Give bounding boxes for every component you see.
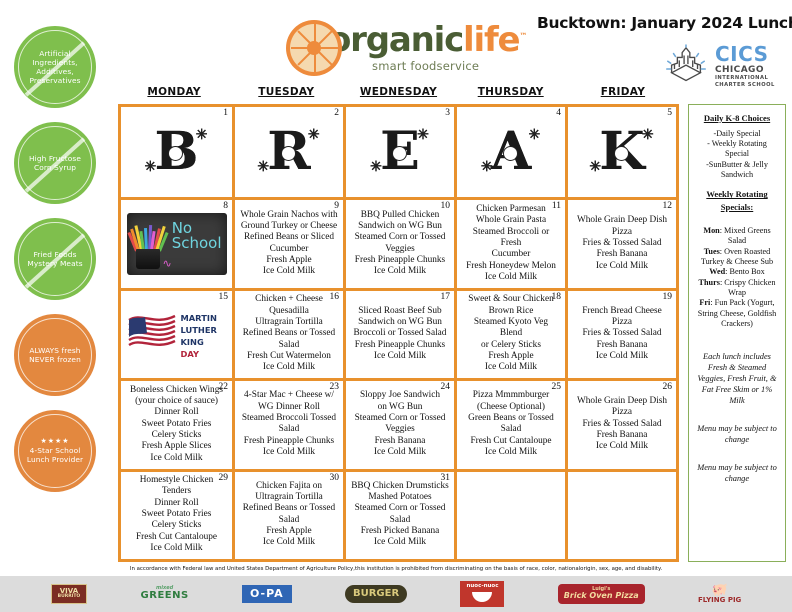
day-number: 29 (219, 473, 229, 483)
brand-name-part2: life (463, 20, 519, 60)
cics-acronym: CICS (715, 44, 775, 64)
menu-items: Chicken + CheeseQuesadillaUltragrain Tor… (238, 294, 340, 373)
chicago-skyline-icon (662, 44, 710, 88)
menu-item: Ultragrain Tortilla (240, 492, 338, 503)
menu-item: Veggies (351, 244, 449, 255)
logo-luigis-name: Brick Oven Pizza (564, 592, 639, 600)
daily-choice-item: -SunButter & Jelly (694, 160, 780, 170)
menu-item: Fresh Apple (240, 255, 338, 266)
menu-item: Brown Rice (462, 306, 560, 317)
calendar-day-cell-4[interactable]: 4A✳✳ (454, 107, 565, 197)
badge-label: Fried Foods Mystery Meats (14, 250, 96, 269)
sparkle-icon: ✳ (308, 128, 320, 142)
calendar-day-cell-25[interactable]: 25Pizza Mmmmburger(Cheese Optional)Green… (454, 381, 565, 468)
sparkle-icon: ✳ (589, 160, 601, 174)
daily-choices-panel: Daily K-8 Choices -Daily Special - Weekl… (688, 104, 786, 562)
day-number: 2 (334, 108, 339, 118)
day-number: 9 (334, 201, 339, 211)
calendar-day-cell-26[interactable]: 26Whole Grain Deep DishPizzaFries & Toss… (565, 381, 676, 468)
calendar-week-row: 22Boneless Chicken Wings(your choice of … (121, 378, 676, 468)
day-number: 3 (445, 108, 450, 118)
menu-item: Fresh Cut Cantaloupe (462, 436, 560, 447)
menu-item: Whole Grain Nachos with (240, 210, 338, 221)
partner-logo-bar: VIVA BURRITO mixed GREENS O-PA BURGER nu… (0, 576, 792, 612)
day-number: 16 (330, 292, 340, 302)
menu-item: Fresh Banana (351, 436, 449, 447)
cics-school-logo: CICS CHICAGO INTERNATIONAL CHARTER SCHOO… (662, 40, 787, 92)
sparkle-icon: ✳ (417, 128, 429, 142)
menu-item: Celery Sticks (126, 520, 227, 531)
sparkle-icon: ✳ (481, 160, 493, 174)
day-number: 22 (219, 382, 229, 392)
menu-item: Cucumber (462, 249, 560, 260)
badge-label: 4-Star School Lunch Provider (27, 446, 83, 464)
menu-item: WG Dinner Roll (240, 402, 338, 413)
menu-item: Ice Cold Milk (351, 351, 449, 362)
cics-line-charter-school: CHARTER SCHOOL (715, 83, 775, 88)
rotating-special-mon: Mon: Mixed Greens Salad (694, 226, 780, 247)
menu-item: Ice Cold Milk (573, 261, 671, 272)
calendar-day-cell-2[interactable]: 2R✳✳ (232, 107, 343, 197)
calendar-week-row: 1B✳✳2R✳✳3E✳✳4A✳✳5K✳✳ (121, 107, 676, 197)
weekday-header-thursday: THURSDAY (455, 86, 567, 104)
menu-item: Ice Cold Milk (240, 537, 338, 548)
menu-items: 4-Star Mac + Cheese w/WG Dinner RollStea… (238, 390, 340, 458)
menu-item: Sweet Potato Fries (126, 419, 227, 430)
rotating-special-item: : Crispy Chicken Wrap (720, 278, 776, 297)
logo-opa-name: O-PA (250, 587, 284, 600)
daily-choice-item: - Weekly Rotating (694, 139, 780, 149)
logo-viva: VIVA BURRITO (51, 584, 88, 604)
organiclife-logo: organiclife™ smart foodservice (286, 12, 516, 84)
snowman-icon (614, 146, 629, 161)
rotating-special-item: : Fun Pack (Yogurt, String Cheese, Goldf… (698, 298, 776, 328)
menu-item: Fresh Picked Banana (351, 526, 449, 537)
menu-items: French Bread Cheese PizzaFries & Tossed … (571, 306, 673, 363)
menu-item: or Celery Sticks (462, 340, 560, 351)
calendar-day-cell-15[interactable]: 15MARTINLUTHERKINGDAY (121, 291, 232, 378)
menu-item: Fresh Pineapple Chunks (351, 255, 449, 266)
menu-item: Cucumber (240, 244, 338, 255)
menu-item: on WG Bun (351, 402, 449, 413)
rotating-title-line1: Weekly Rotating (694, 189, 780, 200)
day-number: 25 (552, 382, 562, 392)
winter-break-letter-R: R✳✳ (267, 126, 310, 178)
bowl-icon (472, 592, 492, 602)
daily-choice-item: Special (694, 149, 780, 159)
sparkle-icon: ✳ (370, 160, 382, 174)
menu-item: Fries & Tossed Salad (573, 238, 671, 249)
menu-item: Ice Cold Milk (126, 543, 227, 554)
snowman-icon (168, 146, 183, 161)
weekday-header-monday: MONDAY (118, 86, 230, 104)
menu-items: BBQ Pulled ChickenSandwich on WG BunStea… (349, 210, 451, 278)
menu-item: Ice Cold Milk (240, 266, 338, 277)
trademark-symbol: ™ (519, 32, 526, 41)
menu-item: Quesadilla (240, 306, 338, 317)
menu-items: Chicken ParmesanWhole Grain PastaSteamed… (460, 204, 562, 283)
cics-line-international: INTERNATIONAL (715, 76, 775, 81)
badge-no-fried-foods: Fried Foods Mystery Meats (14, 218, 96, 300)
sparkle-icon: ✳ (145, 160, 157, 174)
menu-item: Fries & Tossed Salad (573, 419, 671, 430)
badge-label: High Fructose Corn Syrup (14, 154, 96, 173)
menu-item: Fresh Cut Watermelon (240, 351, 338, 362)
menu-item: Chicken Fajita on (240, 481, 338, 492)
calendar-day-cell-29[interactable]: 29Homestyle ChickenTendersDinner RollSwe… (121, 472, 232, 559)
calendar-day-cell-31[interactable]: 31BBQ Chicken DrumsticksMashed PotatoesS… (343, 472, 454, 559)
rotating-special-item: : Bento Box (725, 267, 765, 276)
calendar-day-cell-23[interactable]: 234-Star Mac + Cheese w/WG Dinner RollSt… (232, 381, 343, 468)
calendar-day-cell-17[interactable]: 17Sliced Roast Beef SubSandwich on WG Bu… (343, 291, 454, 378)
menu-item: Ice Cold Milk (573, 441, 671, 452)
rotating-special-day: Fri (699, 298, 710, 307)
menu-item: Sandwich on WG Bun (351, 317, 449, 328)
day-number: 12 (663, 201, 673, 211)
menu-item: Broccoli or Tossed Salad (351, 328, 449, 339)
rotating-special-day: Thurs (699, 278, 720, 287)
change-note-2: Menu may be subject to change (694, 463, 780, 485)
rotating-special-item: : Mixed Greens Salad (720, 226, 771, 245)
menu-item: Fresh Banana (573, 249, 671, 260)
badge-4-star-provider: ★★★★ 4-Star School Lunch Provider (14, 410, 96, 492)
menu-item: BBQ Pulled Chicken (351, 210, 449, 221)
menu-item: Fresh Apple Slices (126, 441, 227, 452)
menu-item: Steamed Broccoli Tossed (240, 413, 338, 424)
menu-item: Ultragrain Tortilla (240, 317, 338, 328)
menu-item: Refined Beans or Tossed (240, 328, 338, 339)
orange-slice-icon (286, 20, 342, 76)
pencil-cup-icon (136, 249, 160, 269)
menu-item: Ice Cold Milk (462, 362, 560, 373)
menu-item: Sloppy Joe Sandwich (351, 390, 449, 401)
calendar-day-cell-16[interactable]: 16Chicken + CheeseQuesadillaUltragrain T… (232, 291, 343, 378)
menu-calendar-page: organiclife™ smart foodservice Bucktown:… (0, 0, 792, 612)
menu-item: Ice Cold Milk (462, 272, 560, 283)
menu-item: Ice Cold Milk (351, 266, 449, 277)
menu-item: Steamed Corn or Tossed (351, 232, 449, 243)
menu-item: (your choice of sauce) (126, 396, 227, 407)
menu-item: Ice Cold Milk (351, 537, 449, 548)
american-flag-icon (125, 306, 181, 352)
logo-flying-pig: 🐖 FLYING PIG (698, 584, 741, 604)
sparkle-icon: ✳ (528, 128, 540, 142)
calendar-day-cell-18[interactable]: 18Sweet & Sour ChickenBrown RiceSteamed … (454, 291, 565, 378)
change-note-1: Menu may be subject to change (694, 424, 780, 446)
logo-burger: BURGER (345, 585, 407, 604)
menu-item: Sliced Roast Beef Sub (351, 306, 449, 317)
day-number: 30 (330, 473, 340, 483)
logo-luigis: Luigi's Brick Oven Pizza (558, 584, 645, 604)
menu-item: Fresh Pineapple Chunks (240, 436, 338, 447)
cics-line-chicago: CHICAGO (715, 66, 775, 75)
rotating-title-line2: Specials: (694, 202, 780, 213)
winter-break-letter-A: A✳✳ (491, 126, 531, 178)
menu-item: Salad (240, 424, 338, 435)
menu-item: French Bread Cheese Pizza (573, 306, 671, 329)
menu-items: Whole Grain Nachos withGround Turkey or … (238, 210, 340, 278)
menu-item: Fresh Apple (462, 351, 560, 362)
calendar-day-cell-10[interactable]: 10BBQ Pulled ChickenSandwich on WG BunSt… (343, 200, 454, 287)
includes-note: Each lunch includes Fresh & Steamed Vegg… (694, 352, 780, 407)
menu-item: Ice Cold Milk (351, 447, 449, 458)
menu-items: Homestyle ChickenTendersDinner RollSweet… (124, 475, 229, 554)
badge-always-fresh: ALWAYS fresh NEVER frozen (14, 314, 96, 396)
pencils-icon (135, 225, 163, 251)
menu-item: Whole Grain Deep Dish (573, 215, 671, 226)
sparkle-icon: ✳ (642, 128, 654, 142)
menu-items: BBQ Chicken DrumsticksMashed PotatoesSte… (349, 481, 451, 549)
menu-item: Sweet & Sour Chicken (462, 294, 560, 305)
calendar-day-cell-30[interactable]: 30Chicken Fajita onUltragrain TortillaRe… (232, 472, 343, 559)
menu-item: Steamed Corn or Tossed (351, 503, 449, 514)
menu-item: Salad (462, 424, 560, 435)
menu-items: Whole Grain Deep DishPizzaFries & Tossed… (571, 215, 673, 272)
rotating-special-thurs: Thurs: Crispy Chicken Wrap (694, 278, 780, 299)
snowman-icon (503, 146, 518, 161)
rotating-special-day: Tues (704, 247, 720, 256)
menu-item: Salad (351, 515, 449, 526)
brand-name: organiclife™ (328, 23, 526, 57)
no-school-chalkboard-image: NoSchool∿ (127, 213, 227, 275)
day-number: 17 (441, 292, 451, 302)
menu-item: Homestyle Chicken (126, 475, 227, 486)
day-number: 5 (667, 108, 672, 118)
menu-items: Boneless Chicken Wings(your choice of sa… (124, 385, 229, 464)
calendar-day-cell-22[interactable]: 22Boneless Chicken Wings(your choice of … (121, 381, 232, 468)
rotating-special-day: Mon (703, 226, 719, 235)
calendar-day-cell-19[interactable]: 19French Bread Cheese PizzaFries & Tosse… (565, 291, 676, 378)
usda-disclaimer: In accordance with Federal law and Unite… (0, 566, 792, 572)
menu-item: Pizza Mmmmburger (462, 390, 560, 401)
logo-nuoc-nuoc-name: nuoc-nuoc (466, 583, 498, 589)
menu-item: Whole Grain Pasta (462, 215, 560, 226)
menu-items: Whole Grain Deep DishPizzaFries & Tossed… (571, 396, 673, 453)
menu-item: Ground Turkey or Cheese (240, 221, 338, 232)
menu-item: Fresh Cut Cantaloupe (126, 532, 227, 543)
menu-item: Salad (240, 515, 338, 526)
mlk-day-image: MARTINLUTHERKINGDAY (125, 306, 229, 362)
quality-badges: Artificial Ingredients, Additives, Prese… (14, 26, 106, 566)
calendar-week-row: 8NoSchool∿9Whole Grain Nachos withGround… (121, 197, 676, 287)
weekday-header-friday: FRIDAY (567, 86, 679, 104)
badge-no-artificial-ingredients: Artificial Ingredients, Additives, Prese… (14, 26, 96, 108)
daily-choices-block: Daily K-8 Choices -Daily Special - Weekl… (694, 113, 780, 180)
rotating-special-day: Wed (709, 267, 725, 276)
day-number: 1 (223, 108, 228, 118)
menu-item: Sweet Potato Fries (126, 509, 227, 520)
calendar-day-cell-1[interactable]: 1B✳✳ (121, 107, 232, 197)
day-number: 19 (663, 292, 673, 302)
menu-item: (Cheese Optional) (462, 402, 560, 413)
mlk-day-label: MARTINLUTHERKINGDAY (181, 312, 217, 360)
rotating-special-tues: Tues: Oven Roasted Turkey & Cheese Sub (694, 247, 780, 268)
menu-items: Sliced Roast Beef SubSandwich on WG BunB… (349, 306, 451, 363)
menu-item: Chicken Parmesan (462, 204, 560, 215)
daily-choice-item: Sandwich (694, 170, 780, 180)
day-number: 18 (552, 292, 562, 302)
logo-burger-name: BURGER (353, 588, 399, 599)
menu-item: Fresh Honeydew Melon (462, 261, 560, 272)
calendar-week-row: 29Homestyle ChickenTendersDinner RollSwe… (121, 469, 676, 559)
logo-nuoc-nuoc: nuoc-nuoc (460, 581, 504, 607)
menu-item: Green Beans or Tossed (462, 413, 560, 424)
chalk-squiggle-icon: ∿ (163, 257, 172, 270)
calendar-week-row: 15MARTINLUTHERKINGDAY16Chicken + CheeseQ… (121, 288, 676, 378)
menu-item: Pizza (573, 227, 671, 238)
menu-items: Chicken Fajita onUltragrain TortillaRefi… (238, 481, 340, 549)
menu-item: Steamed Broccoli or Fresh (462, 227, 560, 250)
day-number: 10 (441, 201, 451, 211)
menu-item: Steamed Corn or Tossed (351, 413, 449, 424)
menu-item: Sandwich on WG Bun (351, 221, 449, 232)
weekday-header-wednesday: WEDNESDAY (342, 86, 454, 104)
day-number: 4 (556, 108, 561, 118)
menu-item: 4-Star Mac + Cheese w/ (240, 390, 338, 401)
menu-item: Steamed Kyoto Veg Blend (462, 317, 560, 340)
menu-item: Pizza (573, 407, 671, 418)
menu-item: Refined Beans or Sliced (240, 232, 338, 243)
winter-break-letter-E: E✳✳ (380, 126, 420, 178)
menu-item: BBQ Chicken Drumsticks (351, 481, 449, 492)
menu-items: Pizza Mmmmburger(Cheese Optional)Green B… (460, 390, 562, 458)
menu-item: Whole Grain Deep Dish (573, 396, 671, 407)
calendar-day-cell-24[interactable]: 24Sloppy Joe Sandwichon WG BunSteamed Co… (343, 381, 454, 468)
page-title: Bucktown: January 2024 Lunch (537, 14, 792, 32)
day-number: 8 (223, 201, 228, 211)
logo-opa: O-PA (242, 585, 292, 603)
day-number: 11 (552, 201, 561, 211)
menu-item: Tenders (126, 486, 227, 497)
day-number: 31 (441, 473, 451, 483)
day-number: 26 (663, 382, 673, 392)
badge-label: Artificial Ingredients, Additives, Prese… (14, 49, 96, 86)
star-rating-icon: ★★★★ (21, 437, 89, 446)
menu-item: Fresh Apple (240, 526, 338, 537)
menu-item: Veggies (351, 424, 449, 435)
menu-item: Fresh Pineapple Chunks (351, 340, 449, 351)
winter-break-letter-K: K✳✳ (599, 126, 644, 178)
menu-item: Fries & Tossed Salad (573, 328, 671, 339)
winter-break-letter-B: B✳✳ (155, 126, 199, 178)
calendar-day-cell-3[interactable]: 3E✳✳ (343, 107, 454, 197)
day-number: 15 (219, 292, 229, 302)
menu-item: Boneless Chicken Wings (126, 385, 227, 396)
brand-name-part1: organic (328, 20, 463, 60)
logo-flying-pig-name: FLYING PIG (698, 596, 741, 604)
calendar-day-cell-9[interactable]: 9Whole Grain Nachos withGround Turkey or… (232, 200, 343, 287)
weekly-rotating-specials-block: Weekly Rotating Specials: Mon: Mixed Gre… (694, 189, 780, 329)
logo-mixed-greens: mixed GREENS (141, 586, 189, 602)
rotating-special-fri: Fri: Fun Pack (Yogurt, String Cheese, Go… (694, 298, 780, 329)
menu-item: Refined Beans or Tossed (240, 503, 338, 514)
menu-item: Ice Cold Milk (240, 362, 338, 373)
sparkle-icon: ✳ (257, 160, 269, 174)
lunch-calendar: MONDAY TUESDAY WEDNESDAY THURSDAY FRIDAY… (118, 86, 679, 562)
no-school-label: NoSchool (172, 221, 222, 253)
menu-items: Sloppy Joe Sandwichon WG BunSteamed Corn… (349, 390, 451, 458)
menu-item: Ice Cold Milk (240, 447, 338, 458)
snowman-icon (281, 146, 296, 161)
badge-no-high-fructose-corn-syrup: High Fructose Corn Syrup (14, 122, 96, 204)
calendar-grid: 1B✳✳2R✳✳3E✳✳4A✳✳5K✳✳8NoSchool∿9Whole Gra… (118, 104, 679, 562)
calendar-day-cell-5[interactable]: 5K✳✳ (565, 107, 676, 197)
daily-choices-title: Daily K-8 Choices (694, 113, 780, 124)
rotating-specials-list: Mon: Mixed Greens SaladTues: Oven Roaste… (694, 226, 780, 329)
menu-item: Fresh Banana (573, 430, 671, 441)
rotating-special-wed: Wed: Bento Box (694, 267, 780, 277)
calendar-day-cell-8[interactable]: 8NoSchool∿ (121, 200, 232, 287)
menu-item: Ice Cold Milk (126, 453, 227, 464)
calendar-day-cell-12[interactable]: 12Whole Grain Deep DishPizzaFries & Toss… (565, 200, 676, 287)
menu-item: Ice Cold Milk (462, 447, 560, 458)
day-number: 23 (330, 382, 340, 392)
menu-item: Mashed Potatoes (351, 492, 449, 503)
menu-item: Chicken + Cheese (240, 294, 338, 305)
calendar-day-cell-empty[interactable] (565, 472, 676, 559)
sparkle-icon: ✳ (196, 128, 208, 142)
menu-item: Ice Cold Milk (573, 351, 671, 362)
day-number: 24 (441, 382, 451, 392)
calendar-day-cell-11[interactable]: 11Chicken ParmesanWhole Grain PastaSteam… (454, 200, 565, 287)
badge-label: ALWAYS fresh NEVER frozen (14, 346, 96, 365)
brand-tagline: smart foodservice (372, 59, 526, 73)
menu-item: Dinner Roll (126, 407, 227, 418)
menu-items: Sweet & Sour ChickenBrown RiceSteamed Ky… (460, 294, 562, 373)
weekday-header-tuesday: TUESDAY (230, 86, 342, 104)
calendar-day-cell-empty[interactable] (454, 472, 565, 559)
menu-item: Dinner Roll (126, 498, 227, 509)
menu-item: Fresh Banana (573, 340, 671, 351)
logo-mixed-greens-name: GREENS (141, 591, 189, 602)
weekday-header-row: MONDAY TUESDAY WEDNESDAY THURSDAY FRIDAY (118, 86, 679, 104)
menu-item: Salad (240, 340, 338, 351)
daily-choice-item: -Daily Special (694, 129, 780, 139)
logo-viva-sub: BURRITO (58, 595, 81, 600)
menu-item: Celery Sticks (126, 430, 227, 441)
snowman-icon (392, 146, 407, 161)
